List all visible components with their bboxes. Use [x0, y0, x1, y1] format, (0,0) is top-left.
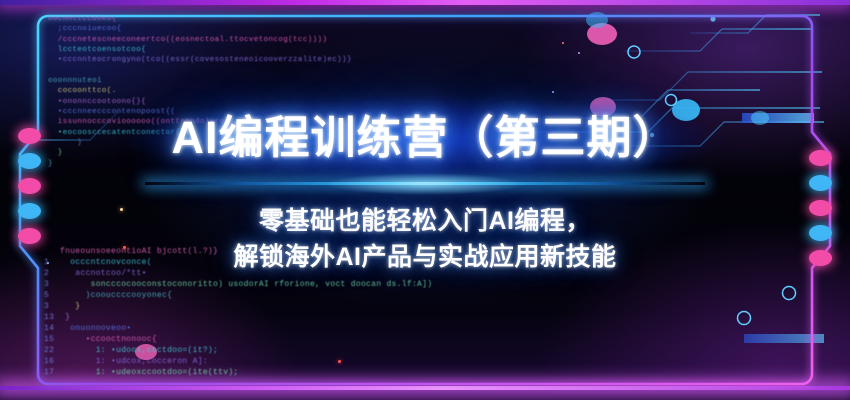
code-line: 5 )coouccccooyonec{	[44, 290, 432, 301]
code-line-number: 13	[44, 312, 60, 323]
divider-glow-hotspot	[325, 173, 525, 195]
code-line: oocnnttccooko{	[48, 14, 352, 24]
code-line-text: •ccooctnonooc{	[60, 335, 157, 344]
code-line: 16 1: •udcox,cocceron A]:	[44, 356, 432, 367]
code-line-number: 17	[44, 367, 60, 378]
code-line	[48, 66, 352, 76]
subtitle-line-1: 零基础也能轻松入门AI编程，	[0, 203, 850, 239]
code-line-number: 3	[44, 301, 60, 312]
code-line-number: 22	[44, 345, 60, 356]
code-line-number: 14	[44, 323, 60, 334]
bottom-base-bar	[0, 390, 850, 400]
banner-subtitle: 零基础也能轻松入门AI编程， 解锁海外AI产品与实战应用新技能	[0, 203, 850, 275]
code-line-text: 1: •udcox,cocceron A]:	[60, 357, 208, 366]
particle	[552, 91, 554, 93]
code-line: •cccnnteocrongyno(tco((essr(covesosteneo…	[48, 55, 352, 65]
code-line-number: 15	[44, 334, 60, 345]
code-line-number: 3	[44, 279, 60, 290]
code-line: 3 }	[44, 301, 432, 312]
code-line-text: )coouccccooyonec{	[60, 291, 172, 300]
code-line: cocoonttco(.	[48, 86, 352, 96]
code-line: 14 onuonooveoo•	[44, 323, 432, 334]
code-line-text: onuonooveoo•	[60, 324, 131, 333]
code-line-text: 1: •udeoxccootdoo=(ite(ttv);	[60, 368, 239, 377]
code-line-number: 16	[44, 356, 60, 367]
particle	[578, 52, 580, 54]
code-line-text: }	[60, 302, 80, 311]
promo-banner: oocnnttccooko{ ;cccnoiuecoo{ /cccnetescn…	[0, 0, 850, 400]
code-line: ooonnnuteoi	[48, 76, 352, 86]
particle	[338, 360, 341, 363]
code-line: ;cccnoiuecoo{	[48, 24, 352, 34]
code-line: 22 1: •udoox,coctdoo=(it?);	[44, 345, 432, 356]
code-line-text: }	[60, 313, 70, 322]
code-line: 13 }	[44, 312, 432, 323]
code-line: lccteotcoensotcoo{	[48, 45, 352, 55]
bottom-neon-bar	[0, 386, 850, 390]
code-line: /cccnetescneeconeertco((eosnectoal.ttocv…	[48, 35, 352, 45]
particle	[562, 42, 564, 44]
code-line: 17 1: •udeoxccootdoo=(ite(ttv);	[44, 367, 432, 378]
subtitle-line-2: 解锁海外AI产品与实战应用新技能	[0, 239, 850, 275]
code-line-text: soncccocooconstoconoritto) usodorAI rfor…	[60, 280, 432, 289]
title-wrapper: AI编程训练营（第三期）	[0, 104, 850, 174]
top-neon-bar	[0, 0, 850, 5]
code-line-number: 5	[44, 290, 60, 301]
banner-title: AI编程训练营（第三期）	[0, 104, 850, 172]
banner-content: AI编程训练营（第三期） 零基础也能轻松入门AI编程， 解锁海外AI产品与实战应…	[0, 104, 850, 275]
code-line: 3 soncccocooconstoconoritto) usodorAI rf…	[44, 279, 432, 290]
code-line: 15 •ccooctnonooc{	[44, 334, 432, 345]
divider-line	[145, 182, 705, 185]
code-line-text: 1: •udoox,coctdoo=(it?);	[60, 346, 218, 355]
